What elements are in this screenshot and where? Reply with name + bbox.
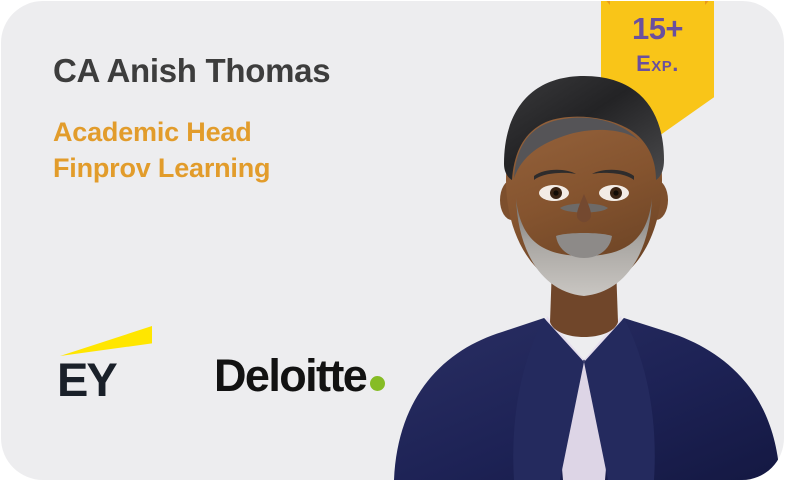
portrait-photo <box>384 60 784 480</box>
ey-beam-icon <box>60 326 152 356</box>
pupil-left <box>553 190 558 195</box>
deloitte-logo: Deloitte <box>214 353 385 403</box>
ey-wordmark: EY <box>57 356 116 403</box>
pupil-right <box>613 190 618 195</box>
company-logo-row: EY Deloitte <box>57 323 385 403</box>
deloitte-dot-icon <box>370 376 385 391</box>
profile-card: CA Anish Thomas Academic Head Finprov Le… <box>1 1 784 480</box>
deloitte-wordmark: Deloitte <box>214 353 366 398</box>
experience-years: 15+ <box>601 13 714 44</box>
portrait-illustration <box>384 60 784 480</box>
ey-logo: EY <box>57 323 152 403</box>
